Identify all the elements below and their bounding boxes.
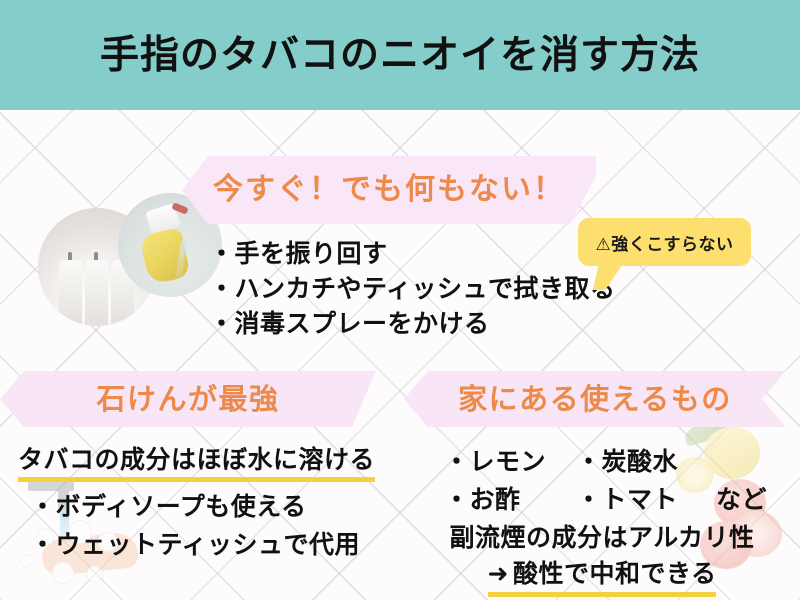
list-item: ・お酢 <box>444 481 576 519</box>
home-items-section-body: ・レモン ・お酢 ・炭酸水 ・トマト など 副流煙の成分はアルカリ性 ➜酸性で中… <box>404 443 800 597</box>
list-item: ・手を振り回す <box>209 236 616 271</box>
banner-immediate-label: 今すぐ！でも何もない！ <box>213 175 565 205</box>
home-items-note-line2-text: 酸性で中和できる <box>513 559 717 588</box>
banner-home-items: 家にある使えるもの <box>404 371 786 427</box>
list-item: ・炭酸水 <box>576 443 716 481</box>
home-items-column-right: ・炭酸水 ・トマト <box>576 443 716 519</box>
banner-immediate: 今すぐ！でも何もない！ <box>182 156 596 224</box>
banner-soap: 石けんが最強 <box>0 371 376 427</box>
home-items-suffix: など <box>716 443 767 519</box>
soap-items-list: ・ボディソープも使える ・ウェットティッシュで代用 <box>30 488 390 564</box>
home-items-note-line2: ➜酸性で中和できる <box>488 557 717 597</box>
warning-callout: ⚠強くこすらない <box>578 218 751 266</box>
list-item: ・消毒スプレーをかける <box>209 306 616 341</box>
arrow-right-icon: ➜ <box>488 559 513 588</box>
immediate-items-list: ・手を振り回す ・ハンカチやティッシュで拭き取る ・消毒スプレーをかける <box>209 236 616 341</box>
home-items-grid: ・レモン ・お酢 ・炭酸水 ・トマト など <box>404 443 800 519</box>
header-bar: 手指のタバコのニオイを消す方法 <box>0 0 800 110</box>
page-title: 手指のタバコのニオイを消す方法 <box>100 36 700 75</box>
soap-section-body: タバコの成分はほぼ水に溶ける ・ボディソープも使える ・ウェットティッシュで代用 <box>0 444 390 564</box>
list-item: ・トマト <box>576 481 716 519</box>
soap-headline: タバコの成分はほぼ水に溶ける <box>18 444 375 482</box>
list-item: ・ボディソープも使える <box>30 488 390 526</box>
home-items-column-left: ・レモン ・お酢 <box>444 443 576 519</box>
infographic-page: 手指のタバコのニオイを消す方法 今すぐ！でも何もない！ ・手を振り回す ・ハンカ… <box>0 0 800 600</box>
home-items-note: 副流煙の成分はアルカリ性 ➜酸性で中和できる <box>404 521 800 597</box>
home-items-note-line1: 副流煙の成分はアルカリ性 <box>404 521 800 555</box>
list-item: ・レモン <box>444 443 576 481</box>
list-item: ・ハンカチやティッシュで拭き取る <box>209 271 616 306</box>
banner-soap-label: 石けんが最強 <box>96 385 279 414</box>
list-item: ・ウェットティッシュで代用 <box>30 526 390 564</box>
warning-callout-text: ⚠強くこすらない <box>596 230 734 255</box>
banner-home-items-label: 家にある使えるもの <box>458 385 732 414</box>
